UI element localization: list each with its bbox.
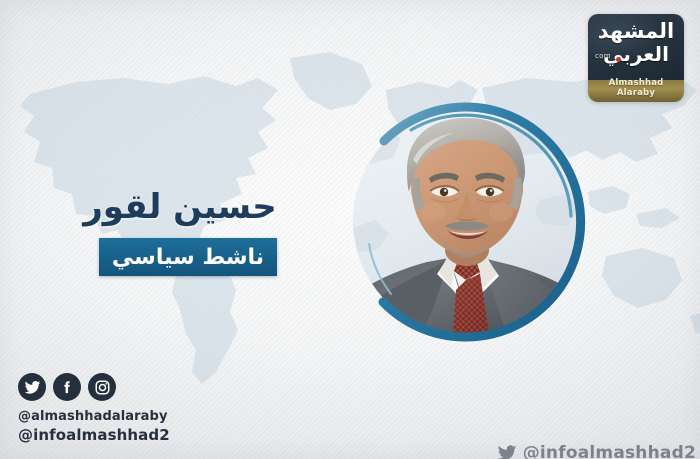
portrait-photo	[353, 108, 579, 334]
logo-english-label: Almashhad Alaraby	[588, 78, 684, 98]
person-name: حسين لقور	[60, 186, 300, 228]
social-handle-secondary[interactable]: @infoalmashhad2	[18, 425, 170, 445]
person-title-badge: ناشط سياسي	[99, 238, 277, 276]
social-icon-row	[18, 373, 170, 401]
social-links-block: @almashhadalaraby @infoalmashhad2	[18, 373, 170, 445]
logo-com-label: com	[595, 52, 611, 60]
watermark-handle: @infoalmashhad2	[523, 443, 696, 459]
logo-red-dot-icon	[616, 57, 621, 62]
almashhad-alaraby-logo[interactable]: المشهد العربي com Almashhad Alaraby	[588, 14, 684, 102]
twitter-icon	[497, 443, 517, 459]
facebook-icon[interactable]	[53, 373, 81, 401]
watermark: @infoalmashhad2	[497, 443, 696, 459]
instagram-icon[interactable]	[88, 373, 116, 401]
twitter-icon[interactable]	[18, 373, 46, 401]
social-handle-primary[interactable]: @almashhadalaraby	[18, 408, 170, 425]
logo-arabic-line-1: المشهد	[588, 20, 684, 43]
portrait-container	[343, 98, 589, 344]
social-media-card: المشهد العربي com Almashhad Alaraby	[0, 0, 700, 459]
